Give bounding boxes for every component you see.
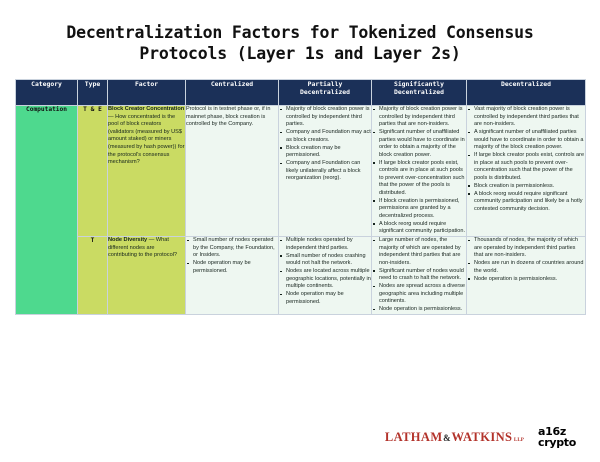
column-header-centralized: Centralized [186, 80, 279, 106]
bullet-list-partially-row2: Multiple nodes operated by independent t… [279, 237, 371, 306]
factor-body-row1: — How concentrated is the pool of block … [108, 114, 184, 166]
column-header-type: Type [78, 80, 108, 106]
header-row: Category Type Factor Centralized Partial… [16, 80, 586, 106]
list-item: Company and Foundation can likely unilat… [279, 160, 371, 183]
list-item: Vast majority of block creation power is… [467, 106, 585, 129]
list-item: Node operation may be permissioned. [279, 291, 371, 306]
ampersand-glyph: & [443, 433, 452, 443]
list-item: A block reorg would require significant … [467, 191, 585, 214]
column-header-significantly-decentralized: Significantly Decentralized [372, 80, 467, 106]
bullet-list-significantly-row1: Majority of block creation power is cont… [372, 106, 466, 236]
factor-title-row1: Block Creator Concentration [108, 106, 184, 112]
header-partially-line1: Partially [308, 80, 343, 88]
header-significantly-line1: Significantly [394, 80, 444, 88]
llp-suffix: LLP [512, 437, 524, 443]
list-item: Node operation may be permissioned. [186, 260, 278, 275]
list-item: Nodes are located across multiple geogra… [279, 268, 371, 291]
cell-significantly-row1: Majority of block creation power is cont… [372, 106, 467, 237]
list-item: Significant number of unaffiliated parti… [372, 129, 466, 159]
cell-decentralized-row2: Thousands of nodes, the majority of whic… [467, 237, 586, 315]
list-item: If large block creator pools exist, cont… [467, 152, 585, 182]
list-item: Node operation is permissionless. [372, 306, 466, 314]
list-item: Block creation may be permissioned. [279, 145, 371, 160]
list-item: Majority of block creation power is cont… [372, 106, 466, 129]
header-partially-line2: Decentralized [300, 88, 350, 96]
cell-centralized-row1: Protocol is in testnet phase or, if in m… [186, 106, 279, 237]
list-item: Small number of nodes crashing would not… [279, 253, 371, 268]
list-item: Nodes are spread across a diverse geogra… [372, 283, 466, 306]
list-item: Company and Foundation may act as block … [279, 129, 371, 144]
title-line-2: Protocols (Layer 1s and Layer 2s) [40, 43, 560, 64]
footer-logos: LATHAM & WATKINS LLP a16z crypto [0, 427, 600, 448]
a16z-crypto-logo: a16z crypto [538, 427, 576, 448]
latham-watkins-logo: LATHAM & WATKINS LLP [385, 430, 524, 445]
list-item: Large number of nodes, the majority of w… [372, 237, 466, 267]
column-header-category: Category [16, 80, 78, 106]
bullet-list-partially-row1: Majority of block creation power is cont… [279, 106, 371, 183]
list-item: Significant number of nodes would need t… [372, 268, 466, 283]
list-item: If block creation is permissioned, permi… [372, 198, 466, 221]
cell-category-computation: Computation [16, 106, 78, 315]
table-row: Computation T & E Block Creator Concentr… [16, 106, 586, 237]
cell-type-row2: T [78, 237, 108, 315]
bullet-list-decentralized-row1: Vast majority of block creation power is… [467, 106, 585, 213]
list-item: Multiple nodes operated by independent t… [279, 237, 371, 252]
title-line-1: Decentralization Factors for Tokenized C… [40, 22, 560, 43]
cell-type-row1: T & E [78, 106, 108, 237]
cell-decentralized-row1: Vast majority of block creation power is… [467, 106, 586, 237]
a16z-line-2: crypto [538, 438, 576, 449]
table-body: Computation T & E Block Creator Concentr… [16, 106, 586, 315]
factor-title-row2: Node Diversity [108, 237, 147, 243]
list-item: Small number of nodes operated by the Co… [186, 237, 278, 260]
cell-partially-row2: Multiple nodes operated by independent t… [279, 237, 372, 315]
cell-partially-row1: Majority of block creation power is cont… [279, 106, 372, 237]
column-header-decentralized: Decentralized [467, 80, 586, 106]
list-item: If large block creator pools exist, cont… [372, 160, 466, 198]
list-item: Node operation is permissionless. [467, 276, 585, 284]
column-header-partially-decentralized: Partially Decentralized [279, 80, 372, 106]
bullet-list-decentralized-row2: Thousands of nodes, the majority of whic… [467, 237, 585, 283]
list-item: Protocol is in testnet phase or, if in m… [186, 106, 278, 129]
table-header: Category Type Factor Centralized Partial… [16, 80, 586, 106]
list-item: A block reorg would require significant … [372, 221, 466, 236]
decentralization-matrix-table: Category Type Factor Centralized Partial… [15, 79, 586, 315]
cell-factor-row1: Block Creator Concentration — How concen… [108, 106, 186, 237]
bullet-list-centralized-row1: Protocol is in testnet phase or, if in m… [186, 106, 278, 129]
header-significantly-line2: Decentralized [394, 88, 444, 96]
bullet-list-centralized-row2: Small number of nodes operated by the Co… [186, 237, 278, 275]
page-title: Decentralization Factors for Tokenized C… [0, 0, 600, 72]
cell-centralized-row2: Small number of nodes operated by the Co… [186, 237, 279, 315]
slide-root: Decentralization Factors for Tokenized C… [0, 0, 600, 462]
latham-word: LATHAM [385, 430, 443, 445]
table-row: T Node Diversity — What different nodes … [16, 237, 586, 315]
list-item: Majority of block creation power is cont… [279, 106, 371, 129]
list-item: Nodes are run in dozens of countries aro… [467, 260, 585, 275]
cell-factor-row2: Node Diversity — What different nodes ar… [108, 237, 186, 315]
list-item: Thousands of nodes, the majority of whic… [467, 237, 585, 260]
cell-significantly-row2: Large number of nodes, the majority of w… [372, 237, 467, 315]
watkins-word: WATKINS [451, 430, 512, 445]
column-header-factor: Factor [108, 80, 186, 106]
list-item: A significant number of unaffiliated par… [467, 129, 585, 152]
bullet-list-significantly-row2: Large number of nodes, the majority of w… [372, 237, 466, 314]
list-item: Block creation is permissionless. [467, 183, 585, 191]
